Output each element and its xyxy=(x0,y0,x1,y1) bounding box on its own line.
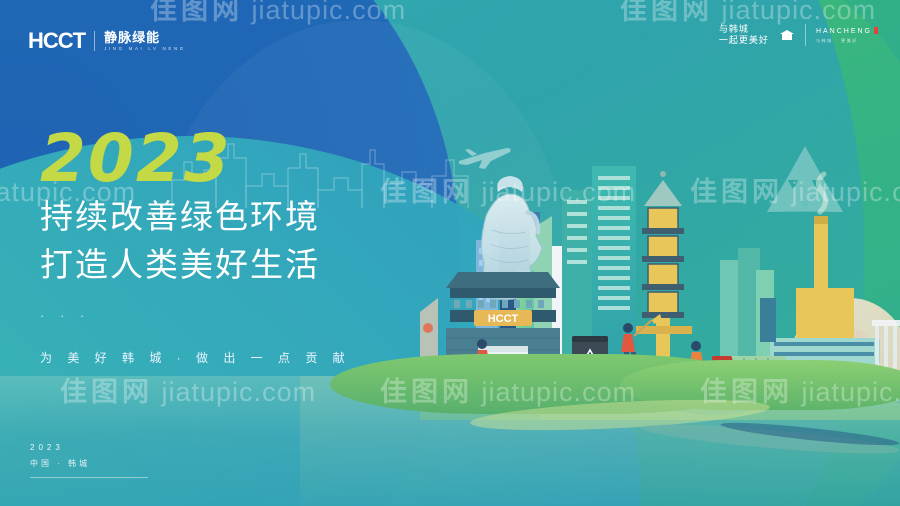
factory-unit xyxy=(760,298,776,342)
colonnade xyxy=(872,320,900,370)
hancheng-gate-icon xyxy=(779,29,795,41)
badge-en-sub: 与韩城 · 更美好 xyxy=(816,38,878,43)
logo-name-cn: 静脉绿能 xyxy=(104,31,186,44)
pagoda xyxy=(636,171,692,362)
headline-subtitle: 为 美 好 韩 城 · 做 出 一 点 贡 献 xyxy=(40,349,351,366)
hancheng-badge[interactable]: 与韩城 一起更美好 HANCHENG 与韩城 · 更美好 xyxy=(719,24,878,47)
corner-location: 中国 · 韩城 xyxy=(30,458,148,469)
badge-en-text: HANCHENG xyxy=(816,27,878,36)
headline-line-1: 持续改善绿色环境 xyxy=(40,195,351,240)
brand-logo[interactable]: HCCT 静脉绿能 JING MAI LV NENG xyxy=(28,28,186,54)
headline-block: 2023 持续改善绿色环境 打造人类美好生活 · · · 为 美 好 韩 城 ·… xyxy=(40,128,351,366)
headline-dots: · · · xyxy=(40,308,351,323)
corner-year: 2023 xyxy=(30,443,148,452)
headline-line-2: 打造人类美好生活 xyxy=(40,243,351,288)
badge-line1: 与韩城 xyxy=(719,24,769,35)
poster-banner: HCCT xyxy=(0,0,900,506)
logo-chinese-block: 静脉绿能 JING MAI LV NENG xyxy=(104,31,186,52)
corner-info: 2023 中国 · 韩城 xyxy=(30,443,148,478)
badge-english-block: HANCHENG 与韩城 · 更美好 xyxy=(816,27,878,43)
factory-building xyxy=(796,288,854,340)
logo-mark-text: HCCT xyxy=(28,28,85,54)
badge-separator xyxy=(805,24,806,46)
gate-sign-text: HCCT xyxy=(488,313,519,325)
badge-chinese-block: 与韩城 一起更美好 xyxy=(719,24,769,47)
headline-year: 2023 xyxy=(40,128,351,191)
badge-line2: 一起更美好 xyxy=(719,35,769,46)
corner-rule xyxy=(30,477,148,478)
logo-divider xyxy=(94,31,95,51)
airplane-icon xyxy=(455,145,515,171)
logo-name-pinyin: JING MAI LV NENG xyxy=(104,47,186,52)
badge-red-accent xyxy=(874,27,878,34)
recycle-symbol-icon xyxy=(750,140,860,240)
